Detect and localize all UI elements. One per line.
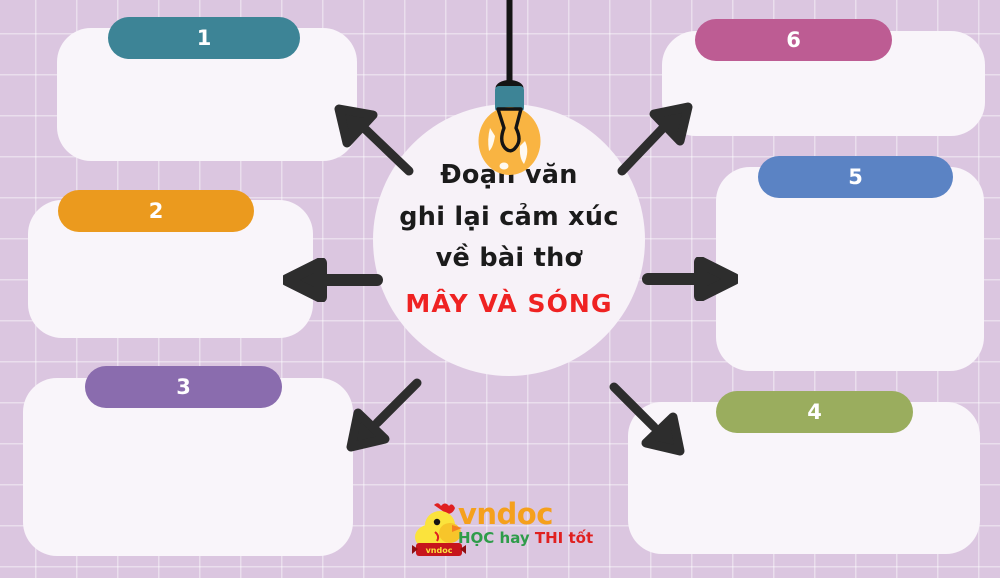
- card-4-number: 4: [807, 400, 822, 424]
- arrow-to-card-4: [606, 381, 686, 457]
- tagline-red: THI tốt: [535, 529, 593, 547]
- arrow-to-card-3: [345, 377, 425, 453]
- card-5-number-badge: 5: [758, 156, 953, 198]
- infographic-canvas: Đoạn văn ghi lại cảm xúc về bài thơ MÂY …: [0, 0, 1000, 578]
- arrow-to-card-5: [642, 257, 738, 301]
- card-2-number-badge: 2: [58, 190, 254, 232]
- vndoc-wordmark: vndoc: [458, 497, 553, 531]
- card-2-number: 2: [149, 199, 164, 223]
- card-1-number-badge: 1: [108, 17, 300, 59]
- vndoc-tagline: HỌC hay THI tốt: [458, 529, 593, 547]
- card-5-number: 5: [848, 165, 863, 189]
- center-line-3: về bài thơ: [436, 238, 583, 279]
- vndoc-logo[interactable]: vndoc vndoc HỌC hay THI tốt: [410, 499, 580, 561]
- lightbulb-illustration: [470, 0, 550, 196]
- lightbulb-icon: [470, 0, 550, 196]
- arrow-to-card-6: [614, 101, 694, 177]
- card-3-number-badge: 3: [85, 366, 282, 408]
- card-6-number-badge: 6: [695, 19, 892, 61]
- svg-text:vndoc: vndoc: [426, 546, 453, 555]
- arrow-to-card-2: [283, 258, 383, 302]
- center-line-2: ghi lại cảm xúc: [399, 197, 619, 238]
- card-6-number: 6: [786, 28, 801, 52]
- card-1-number: 1: [197, 26, 212, 50]
- card-3-number: 3: [176, 375, 191, 399]
- tagline-green: HỌC hay: [458, 529, 535, 547]
- center-line-4-title: MÂY VÀ SÓNG: [405, 284, 612, 325]
- arrow-to-card-1: [333, 103, 417, 179]
- card-4-number-badge: 4: [716, 391, 913, 433]
